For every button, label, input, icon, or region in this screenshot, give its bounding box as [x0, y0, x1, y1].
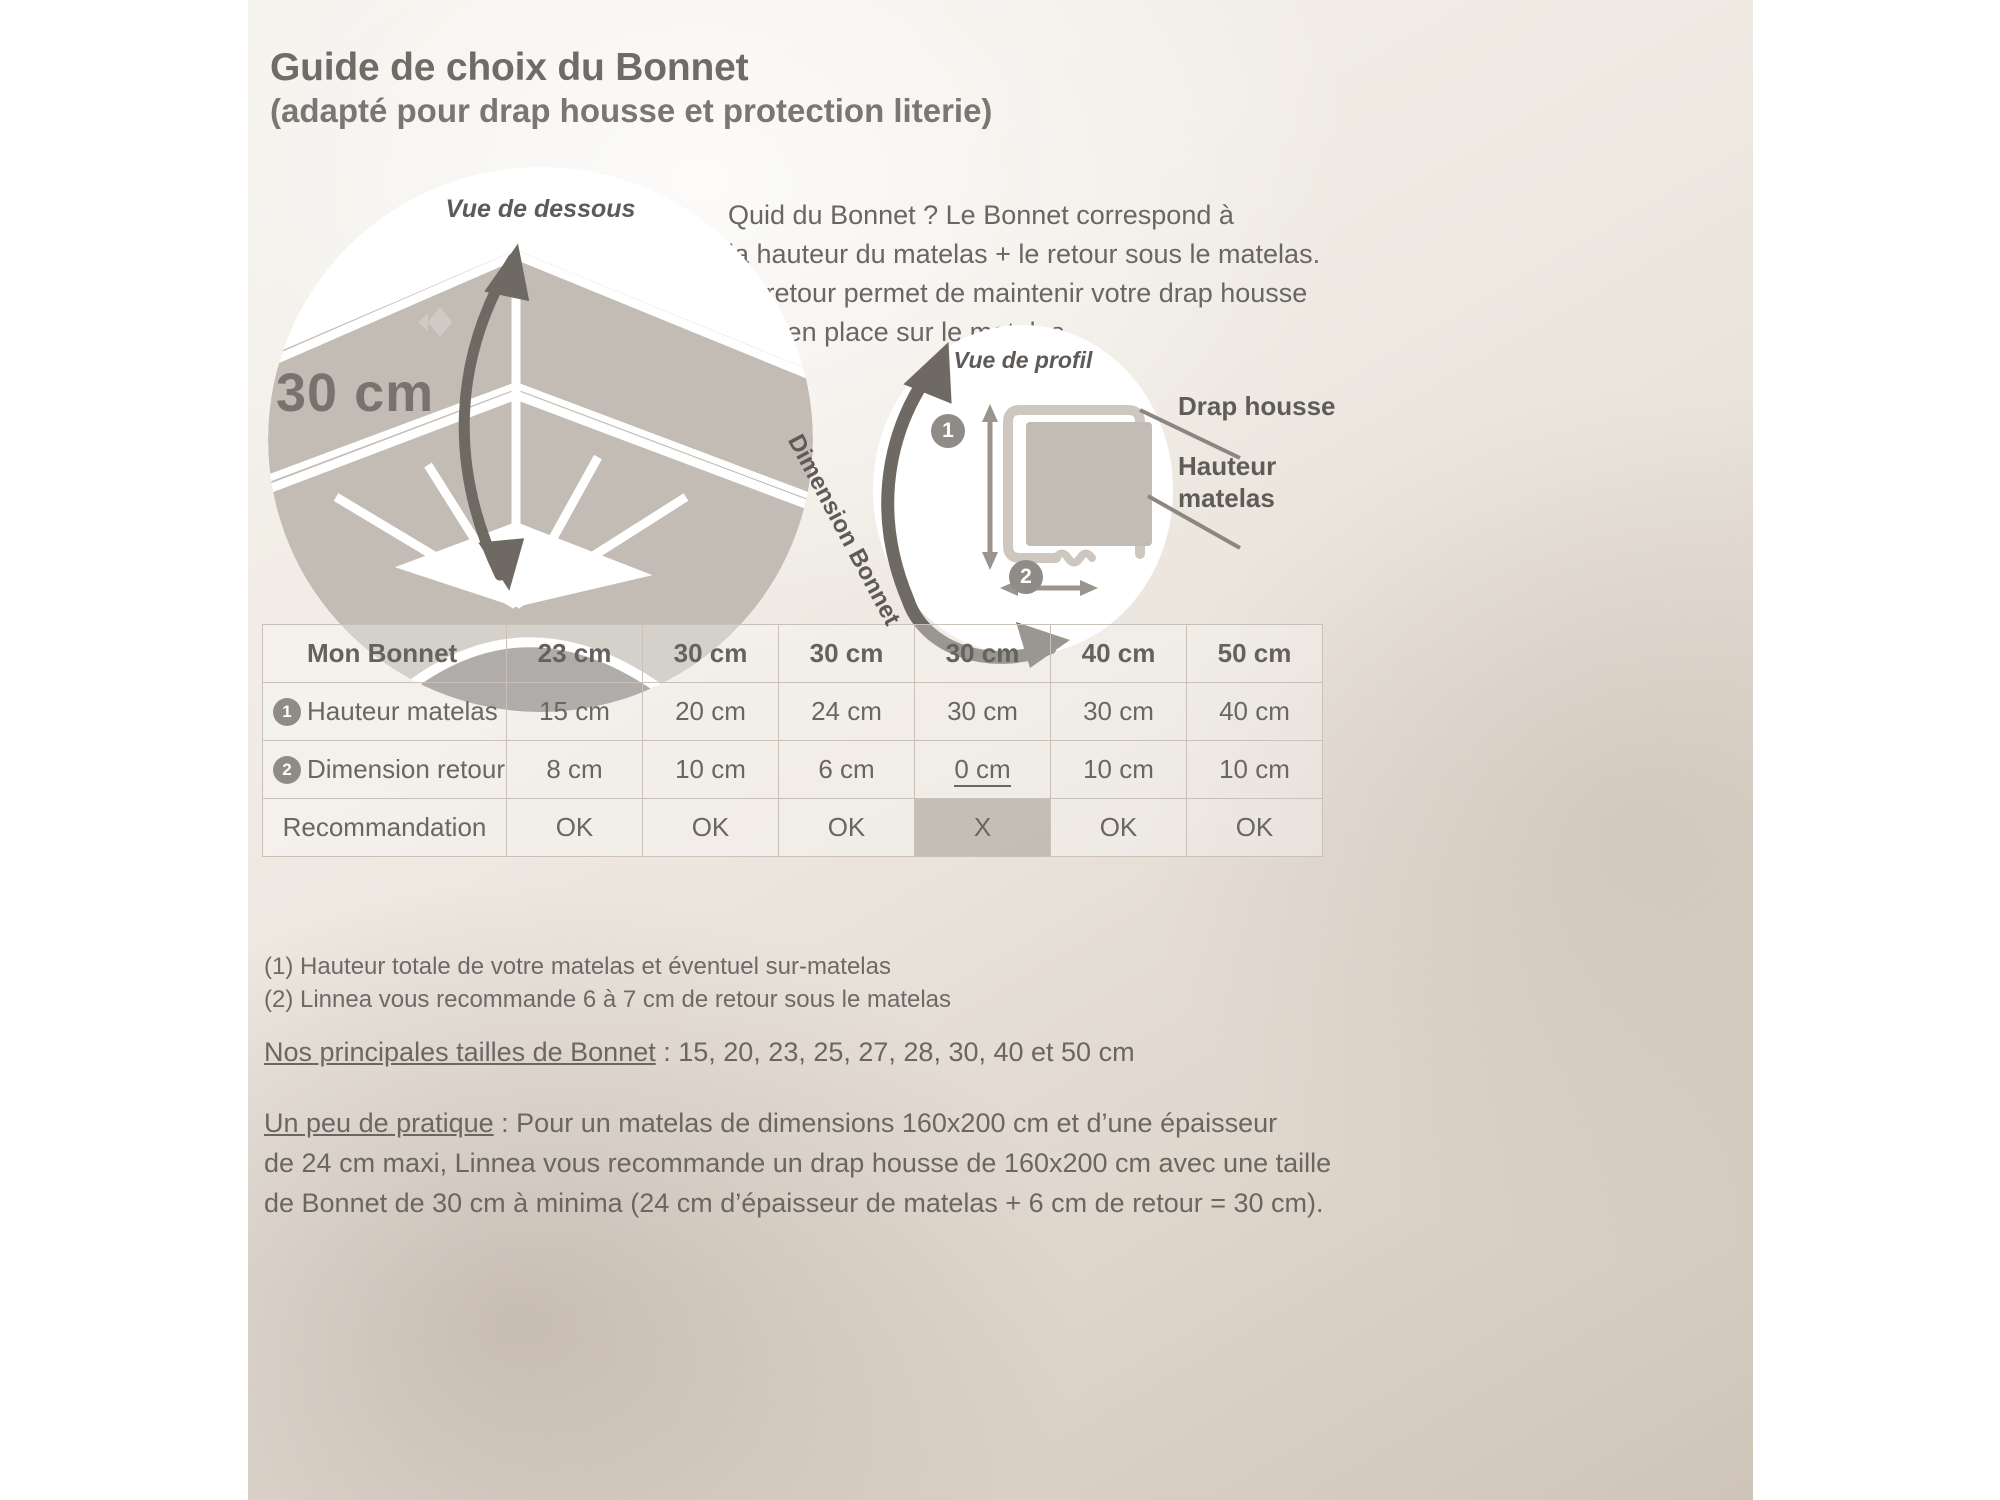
- row-badge-1: 1: [273, 698, 301, 726]
- practice-paragraph: Un peu de pratique : Pour un matelas de …: [264, 1103, 1331, 1223]
- table-cell: 10 cm: [1051, 741, 1187, 799]
- table-cell: 30 cm: [779, 625, 915, 683]
- table-row-label: Mon Bonnet: [263, 625, 507, 683]
- table-cell: 24 cm: [779, 683, 915, 741]
- page-title: Guide de choix du Bonnet: [270, 46, 748, 90]
- available-sizes-label: Nos principales tailles de Bonnet: [264, 1037, 656, 1067]
- table-cell: 6 cm: [779, 741, 915, 799]
- row-label-text: Mon Bonnet: [307, 638, 457, 668]
- table-row: Mon Bonnet 23 cm 30 cm 30 cm 30 cm 40 cm…: [263, 625, 1323, 683]
- bottom-view-caption: Vue de dessous: [268, 195, 813, 224]
- table-cell: 40 cm: [1187, 683, 1323, 741]
- table-cell: 30 cm: [643, 625, 779, 683]
- table-cell: 50 cm: [1187, 625, 1323, 683]
- page-subtitle: (adapté pour drap housse et protection l…: [270, 92, 992, 130]
- practice-line-2: de 24 cm maxi, Linnea vous recommande un…: [264, 1143, 1331, 1183]
- badge-1: 1: [931, 414, 965, 448]
- badge-2: 2: [1009, 560, 1043, 594]
- table-row: 2 Dimension retour 8 cm 10 cm 6 cm 0 cm …: [263, 741, 1323, 799]
- table-cell: 15 cm: [507, 683, 643, 741]
- table-cell: OK: [643, 799, 779, 857]
- bonnet-size-table: Mon Bonnet 23 cm 30 cm 30 cm 30 cm 40 cm…: [262, 624, 1323, 857]
- table-cell: 20 cm: [643, 683, 779, 741]
- available-sizes-value: : 15, 20, 23, 25, 27, 28, 30, 40 et 50 c…: [656, 1037, 1135, 1067]
- table-row: Recommandation OK OK OK X OK OK: [263, 799, 1323, 857]
- profile-view-caption: Vue de profil: [873, 347, 1173, 374]
- table-cell: 8 cm: [507, 741, 643, 799]
- callout-drap-housse: Drap housse: [1178, 390, 1336, 422]
- table-cell: 30 cm: [915, 683, 1051, 741]
- row-label-text: Hauteur matelas: [307, 696, 498, 726]
- poster-panel: Guide de choix du Bonnet (adapté pour dr…: [248, 0, 1753, 1500]
- practice-line-1-rest: : Pour un matelas de dimensions 160x200 …: [494, 1108, 1277, 1138]
- practice-line-1: Un peu de pratique : Pour un matelas de …: [264, 1103, 1331, 1143]
- table-cell: 30 cm: [1051, 683, 1187, 741]
- intro-line-2: la hauteur du matelas + le retour sous l…: [728, 235, 1368, 274]
- callout-hauteur-matelas: Hauteur matelas: [1178, 450, 1276, 514]
- table-cell-highlighted: X: [915, 799, 1051, 857]
- callout-hauteur-line-2: matelas: [1178, 483, 1275, 513]
- table-cell: 10 cm: [643, 741, 779, 799]
- table-cell: 10 cm: [1187, 741, 1323, 799]
- row-label-text: Dimension retour: [307, 754, 505, 784]
- table-cell: 23 cm: [507, 625, 643, 683]
- table-cell: 30 cm: [915, 625, 1051, 683]
- table-row-label: Recommandation: [263, 799, 507, 857]
- table-cell: OK: [1051, 799, 1187, 857]
- row-badge-2: 2: [273, 756, 301, 784]
- bottom-view-measure-label: 30 cm: [276, 362, 434, 424]
- row-label-text: Recommandation: [283, 812, 487, 842]
- poster-page: Guide de choix du Bonnet (adapté pour dr…: [0, 0, 2000, 1500]
- table-cell: OK: [1187, 799, 1323, 857]
- table-cell: 40 cm: [1051, 625, 1187, 683]
- table-cell: 0 cm: [915, 741, 1051, 799]
- footnote-1: (1) Hauteur totale de votre matelas et é…: [264, 950, 951, 983]
- footnotes: (1) Hauteur totale de votre matelas et é…: [264, 950, 951, 1016]
- intro-line-1: Quid du Bonnet ? Le Bonnet correspond à: [728, 196, 1368, 235]
- practice-line-3: de Bonnet de 30 cm à minima (24 cm d’épa…: [264, 1183, 1331, 1223]
- callout-hauteur-line-1: Hauteur: [1178, 451, 1276, 481]
- table-row-label: 1 Hauteur matelas: [263, 683, 507, 741]
- table-cell: OK: [507, 799, 643, 857]
- table-cell: OK: [779, 799, 915, 857]
- table-cell-underlined: 0 cm: [954, 754, 1010, 787]
- table-row: 1 Hauteur matelas 15 cm 20 cm 24 cm 30 c…: [263, 683, 1323, 741]
- footnote-2: (2) Linnea vous recommande 6 à 7 cm de r…: [264, 983, 951, 1016]
- available-sizes-line: Nos principales tailles de Bonnet : 15, …: [264, 1037, 1135, 1068]
- table-row-label: 2 Dimension retour: [263, 741, 507, 799]
- practice-label: Un peu de pratique: [264, 1108, 494, 1138]
